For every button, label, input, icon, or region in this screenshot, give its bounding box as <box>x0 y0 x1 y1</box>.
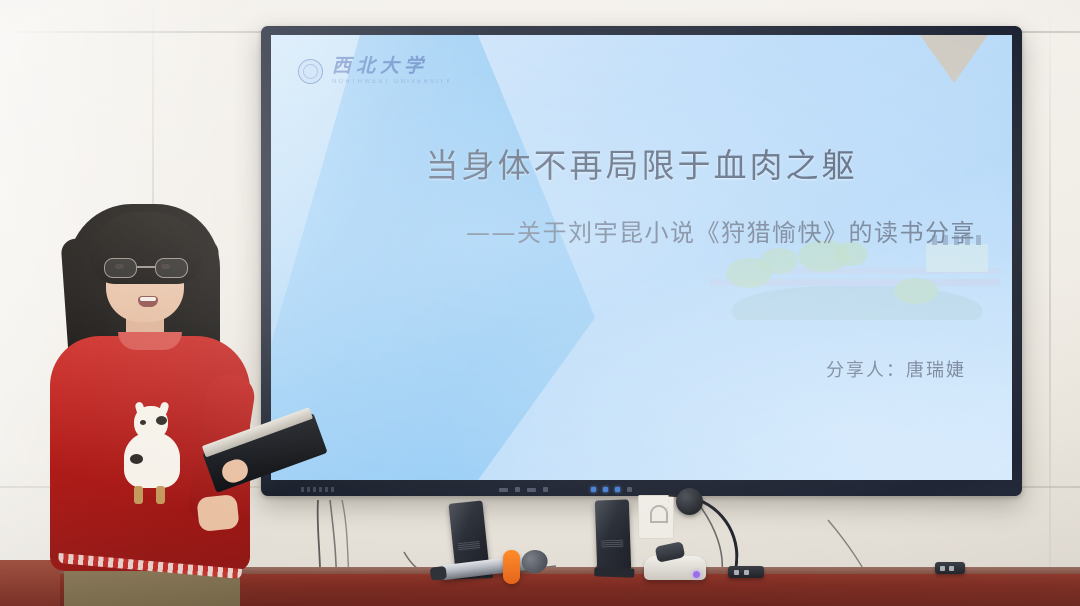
presenter <box>20 196 290 606</box>
slide-title: 当身体不再局限于血肉之躯 <box>271 139 1012 187</box>
speaker-base <box>594 567 634 577</box>
slide-subtitle: ——关于刘宇昆小说《狩猎愉快》的读书分享 <box>466 213 976 248</box>
classroom-scene: 西北大学 NORTHWEST UNIVERSITY 当身体不再局限于血肉之 <box>0 0 1080 606</box>
illustration-bush <box>894 278 938 304</box>
sweater-collar <box>118 332 182 350</box>
university-seal-icon <box>298 59 323 84</box>
alpaca-eye-patch <box>156 416 167 425</box>
alpaca-leg <box>156 486 165 504</box>
alpaca-body-patch <box>130 454 143 464</box>
illustration-building <box>926 244 988 272</box>
display-screen[interactable]: 西北大学 NORTHWEST UNIVERSITY 当身体不再局限于血肉之 <box>271 35 1012 480</box>
wall-seam-right <box>1049 0 1051 606</box>
university-name-cn: 西北大学 <box>332 57 452 76</box>
gooseneck-microphone[interactable] <box>676 488 703 515</box>
alpaca-ear-right <box>158 401 169 416</box>
speaker-right <box>595 499 631 570</box>
speaker-grill <box>458 541 481 551</box>
university-name-en: NORTHWEST UNIVERSITY <box>332 79 452 85</box>
speaker-grill <box>601 540 623 549</box>
glasses-lens-right <box>155 258 188 278</box>
smart-display[interactable]: 西北大学 NORTHWEST UNIVERSITY 当身体不再局限于血肉之 <box>261 26 1022 496</box>
microphone-foam-windscreen <box>503 550 520 584</box>
illustration-bush <box>760 248 798 274</box>
document-camera-led-icon <box>693 571 700 578</box>
alpaca-nose <box>140 420 146 425</box>
glasses-bridge <box>137 266 155 268</box>
mouth <box>138 296 158 307</box>
alpaca-motif-icon <box>116 406 186 502</box>
glasses-lens-left <box>104 258 137 278</box>
hand-lower <box>196 494 239 532</box>
display-button-group[interactable] <box>591 487 632 492</box>
illustration-ground <box>732 286 982 320</box>
slide-corner-triangle <box>920 35 988 83</box>
cable-dongle <box>935 562 965 574</box>
alpaca-leg <box>134 486 143 504</box>
microphone-tail <box>430 566 447 581</box>
slide-presenter-name: 分享人：唐瑞婕 <box>826 356 966 382</box>
university-logo: 西北大学 NORTHWEST UNIVERSITY <box>298 57 452 85</box>
display-brand-mark <box>301 487 334 492</box>
cable-dongle <box>728 566 764 578</box>
display-port-group[interactable] <box>499 487 548 492</box>
gooseneck-microphone-stem <box>664 494 743 573</box>
glasses-icon <box>104 258 188 278</box>
